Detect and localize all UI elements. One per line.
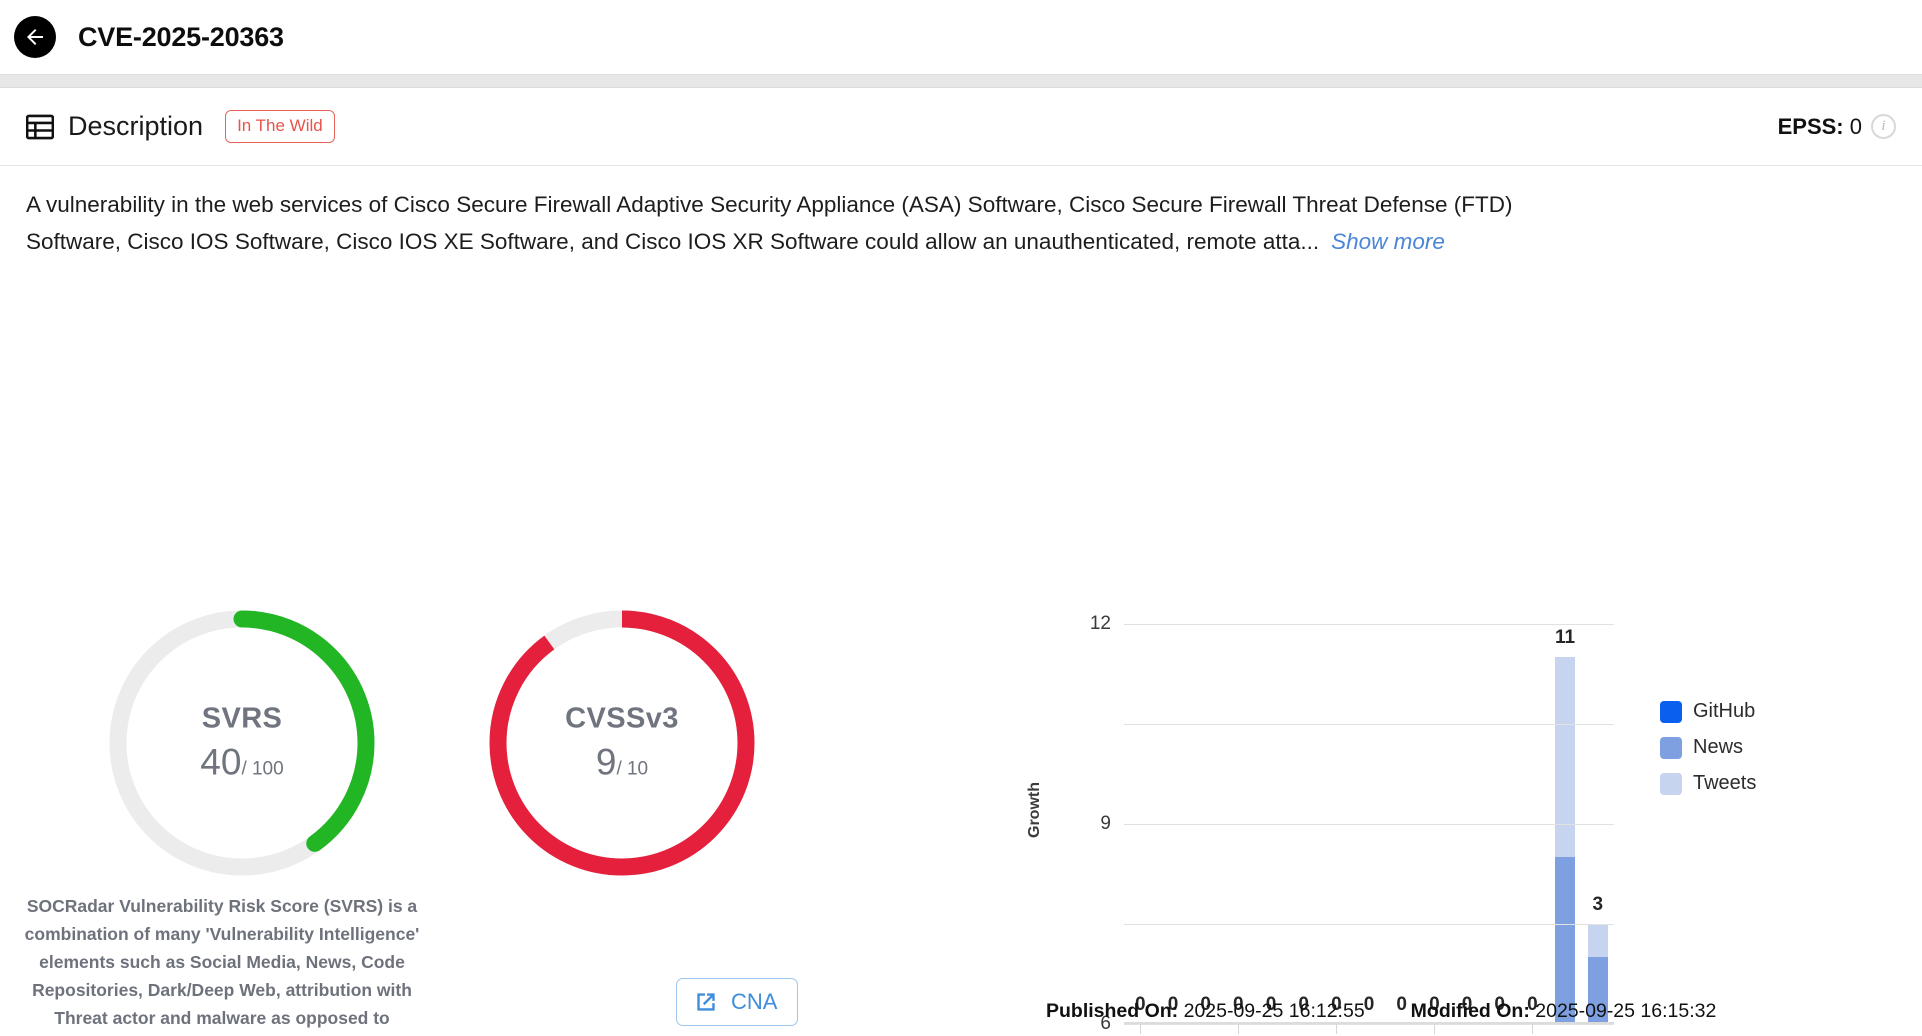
arrow-left-icon (23, 25, 47, 49)
modified-on-value: 2025-09-25 16:15:32 (1535, 1000, 1716, 1022)
chart-bar-value-label: 11 (1555, 627, 1575, 649)
description-title: Description (68, 111, 203, 142)
cna-button-label: CNA (731, 989, 777, 1015)
legend-swatch-icon (1660, 773, 1682, 795)
chart-bar-value-label: 3 (1592, 894, 1603, 916)
legend-label: News (1693, 736, 1743, 759)
chart-x-tick-mark (1532, 1024, 1533, 1034)
section-divider (0, 74, 1922, 88)
back-button[interactable] (14, 16, 56, 58)
chart-legend-item-github[interactable]: GitHub (1660, 700, 1756, 723)
table-list-icon (26, 114, 54, 140)
epss-label: EPSS: (1778, 114, 1844, 139)
page-header: CVE-2025-20363 (0, 0, 1922, 74)
modified-on: Modified On: 2025-09-25 16:15:32 (1411, 1000, 1717, 1023)
growth-chart: Growth 0000000000000113 036912 12 Sep15 … (1030, 610, 1900, 1036)
cvss-gauge-arc (498, 619, 746, 867)
epss-value: 0 (1850, 114, 1862, 139)
info-icon[interactable]: i (1871, 114, 1896, 139)
published-on: Published On: 2025-09-25 16:12:55 (1046, 1000, 1365, 1023)
cvss-gauge: CVSSv3 9/ 10 (466, 603, 778, 883)
chart-gridline: 12 (1124, 624, 1614, 625)
page-title: CVE-2025-20363 (78, 22, 284, 53)
external-link-icon (693, 989, 719, 1015)
svrs-gauge: SVRS 40/ 100 (86, 603, 398, 883)
chart-x-axis-ticks: 12 Sep15 Sep18 Sep21 Sep24 Sep (1124, 1024, 1614, 1036)
show-more-link[interactable]: Show more (1331, 229, 1445, 254)
legend-swatch-icon (1660, 701, 1682, 723)
chart-gridline: 9 (1124, 724, 1614, 725)
chart-bar-segment-news (1555, 857, 1575, 1024)
cna-button[interactable]: CNA (676, 978, 798, 1026)
published-on-value: 2025-09-25 16:12:55 (1184, 1000, 1365, 1022)
published-on-label: Published On: (1046, 1000, 1178, 1022)
chart-plot-area: 0000000000000113 036912 (1124, 624, 1614, 1024)
chart-y-tick-label: 12 (1090, 613, 1111, 635)
chart-x-tick-mark (1336, 1024, 1337, 1034)
main-content: SVRS 40/ 100 CVSSv3 9/ 10 SOCRadar Vulne… (0, 260, 1922, 960)
epss-readout: EPSS: 0 (1778, 114, 1862, 140)
chart-legend-item-news[interactable]: News (1660, 736, 1756, 759)
chart-x-tick-mark (1140, 1024, 1141, 1034)
description-header: Description In The Wild EPSS: 0 i (0, 88, 1922, 166)
legend-swatch-icon (1660, 737, 1682, 759)
description-body: A vulnerability in the web services of C… (0, 166, 1620, 260)
chart-y-axis-title: Growth (1026, 782, 1044, 838)
chart-x-tick-mark (1434, 1024, 1435, 1034)
legend-label: GitHub (1693, 700, 1755, 723)
chart-y-tick-label: 9 (1100, 813, 1111, 835)
chart-legend: GitHubNewsTweets (1660, 700, 1756, 795)
legend-label: Tweets (1693, 772, 1756, 795)
description-text: A vulnerability in the web services of C… (26, 192, 1512, 254)
svrs-description-note: SOCRadar Vulnerability Risk Score (SVRS)… (22, 892, 422, 1036)
chart-x-tick-mark (1238, 1024, 1239, 1034)
chart-gridline: 3 (1124, 924, 1614, 925)
footer-dates: Published On: 2025-09-25 16:12:55 Modifi… (1046, 1000, 1716, 1023)
chart-legend-item-tweets[interactable]: Tweets (1660, 772, 1756, 795)
description-header-left: Description In The Wild (26, 110, 335, 143)
chart-gridline: 6 (1124, 824, 1614, 825)
modified-on-label: Modified On: (1411, 1000, 1530, 1022)
chart-bar-segment-tweets (1555, 657, 1575, 857)
chart-bar-stack (1555, 657, 1575, 1024)
epss-group: EPSS: 0 i (1778, 114, 1896, 140)
in-the-wild-badge[interactable]: In The Wild (225, 110, 335, 143)
chart-bar-segment-tweets (1588, 924, 1608, 957)
